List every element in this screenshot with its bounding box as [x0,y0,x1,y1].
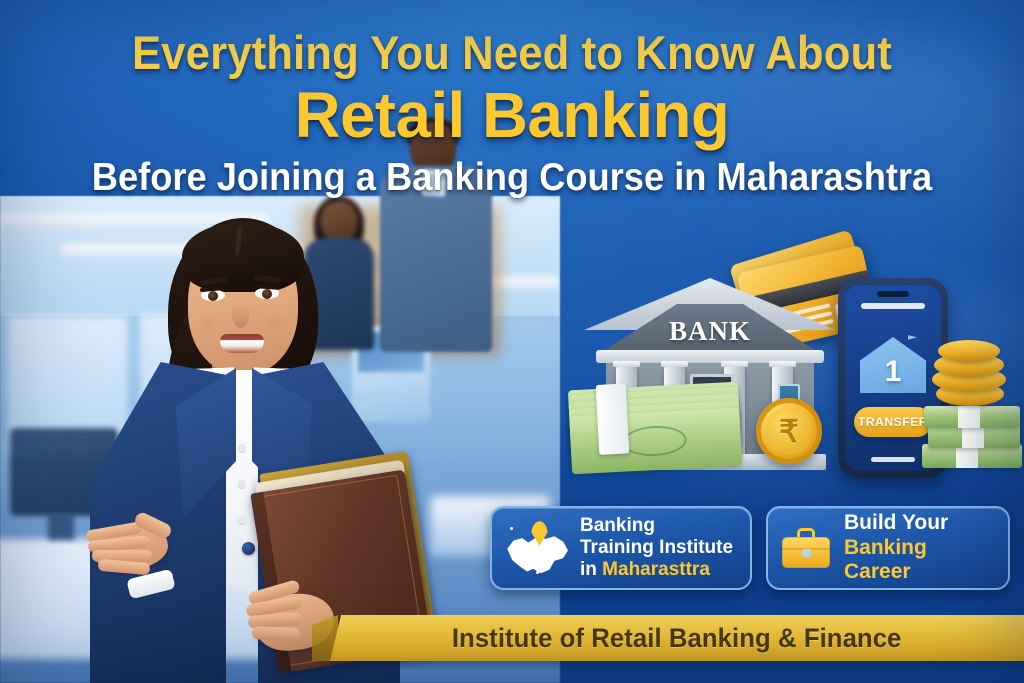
nose [232,304,249,328]
phone-notch [877,291,909,297]
phone-flag-icon [908,335,917,346]
banking-graphics-cluster: BANK ₹ [560,236,1024,496]
badge-row: Banking Training Institute in Maharasttr… [490,506,1010,590]
career-badge[interactable]: Build Your Banking Career [766,506,1010,590]
institute-badge-state-name: Maharasttra [602,559,710,580]
phone-home-shape-icon: 1 [860,337,926,393]
shirt-button [238,480,246,488]
institute-badge-line-3-prefix: in [580,559,602,580]
office-monitor-stand [48,514,74,540]
coin-disc [938,340,1000,362]
iris [208,291,218,301]
rupee-coin-icon: ₹ [756,398,822,464]
cash-band [596,383,630,454]
banknote-oval [622,424,687,457]
cash-bundle-icon [568,382,742,475]
institute-badge-line-1: Banking [580,515,733,537]
phone-home-indicator [871,457,915,462]
bank-building-label: BANK [602,316,818,347]
institute-badge-line-2: Training Institute [580,537,733,559]
ribbon-label: Institute of Retail Banking & Finance [452,623,902,654]
career-badge-line-2: Banking Career [844,536,994,585]
rupee-symbol: ₹ [779,416,799,447]
blazer-button [242,542,255,555]
headline-line-2: Retail Banking [5,82,1019,150]
open-welcoming-hand [78,500,182,578]
map-dot [510,527,513,530]
headline-line-1: Everything You Need to Know About [36,28,988,78]
briefcase-latch [802,549,811,557]
marketing-banner: Everything You Need to Know About Retail… [0,0,1024,683]
briefcase-icon [782,528,830,568]
maharashtra-map-pin-icon [506,521,568,575]
institute-badge-text: Banking Training Institute in Maharasttr… [580,515,733,581]
cash-band [958,406,980,428]
iris [262,289,272,299]
shirt-button [238,444,246,452]
banknote-top [569,408,742,475]
shirt-button [238,516,246,524]
transfer-button[interactable]: TRANSFER [854,407,932,437]
coin-inner-face: ₹ [765,407,813,455]
career-badge-text: Build Your Banking Career [844,511,994,584]
career-badge-line-1: Build Your [844,511,994,535]
finger [252,626,300,641]
coins-and-cash-stack-icon [932,340,1024,470]
headline-block: Everything You Need to Know About Retail… [0,28,1024,200]
cheek [194,316,220,332]
phone-status-bar [861,303,925,309]
headline-line-3: Before Joining a Banking Course in Mahar… [36,157,988,200]
map-dot [536,571,539,574]
institute-badge[interactable]: Banking Training Institute in Maharasttr… [490,506,752,590]
institute-badge-line-3: in Maharasttra [580,559,733,581]
banking-professional-photo [72,212,412,683]
cash-bundle-layer [924,406,1020,428]
transfer-button-label: TRANSFER [858,415,928,429]
smiling-mouth [220,334,264,353]
phone-screen-number: 1 [885,357,902,393]
cheek [262,314,288,330]
bottom-ribbon: Institute of Retail Banking & Finance [330,615,1024,661]
